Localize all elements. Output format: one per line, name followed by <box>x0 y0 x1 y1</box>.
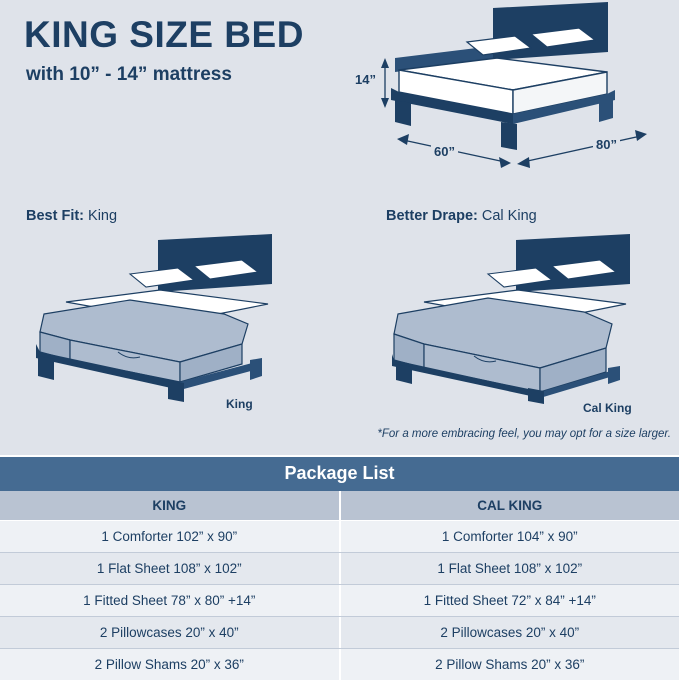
cal-king-bed-caption: Cal King <box>583 401 632 415</box>
cell-king: 2 Pillow Shams 20” x 36” <box>0 649 341 680</box>
cell-king: 1 Flat Sheet 108” x 102” <box>0 553 341 584</box>
table-row: 1 Flat Sheet 108” x 102” 1 Flat Sheet 10… <box>0 553 679 585</box>
height-dimension-label: 14” <box>352 72 379 87</box>
cell-cal-king: 1 Comforter 104” x 90” <box>341 521 679 552</box>
top-bed-illustration: 14” 60” 80” <box>355 0 679 195</box>
cell-cal-king: 1 Fitted Sheet 72” x 84” +14” <box>341 585 679 616</box>
king-bed-caption: King <box>226 397 253 411</box>
table-row: 2 Pillowcases 20” x 40” 2 Pillowcases 20… <box>0 617 679 649</box>
king-bed-illustration <box>10 228 310 408</box>
table-row: 1 Fitted Sheet 78” x 80” +14” 1 Fitted S… <box>0 585 679 617</box>
table-column-headers: KING CAL KING <box>0 491 679 521</box>
page-title: KING SIZE BED <box>24 16 304 55</box>
top-bed-svg <box>355 0 679 195</box>
footnote: *For a more embracing feel, you may opt … <box>377 428 671 440</box>
cell-king: 1 Comforter 102” x 90” <box>0 521 341 552</box>
better-drape-prefix: Better Drape: <box>386 208 478 224</box>
package-list-title: Package List <box>0 455 679 491</box>
cell-cal-king: 2 Pillow Shams 20” x 36” <box>341 649 679 680</box>
page-subtitle: with 10” - 14” mattress <box>26 64 232 86</box>
table-row: 1 Comforter 102” x 90” 1 Comforter 104” … <box>0 521 679 553</box>
cell-cal-king: 1 Flat Sheet 108” x 102” <box>341 553 679 584</box>
table-row: 2 Pillow Shams 20” x 36” 2 Pillow Shams … <box>0 649 679 680</box>
best-fit-label: Best Fit: King <box>26 208 117 224</box>
cell-cal-king: 2 Pillowcases 20” x 40” <box>341 617 679 648</box>
cell-king: 2 Pillowcases 20” x 40” <box>0 617 341 648</box>
best-fit-prefix: Best Fit: <box>26 208 84 224</box>
cal-king-bed-illustration <box>368 228 668 408</box>
column-header-cal-king: CAL KING <box>341 491 679 520</box>
better-drape-label: Better Drape: Cal King <box>386 208 537 224</box>
width-dimension-label: 60” <box>431 144 458 159</box>
best-fit-value: King <box>88 208 117 224</box>
better-drape-value: Cal King <box>482 208 537 224</box>
cell-king: 1 Fitted Sheet 78” x 80” +14” <box>0 585 341 616</box>
length-dimension-label: 80” <box>593 137 620 152</box>
package-list-table: Package List KING CAL KING 1 Comforter 1… <box>0 455 679 680</box>
infographic-root: KING SIZE BED with 10” - 14” mattress <box>0 0 679 679</box>
column-header-king: KING <box>0 491 341 520</box>
